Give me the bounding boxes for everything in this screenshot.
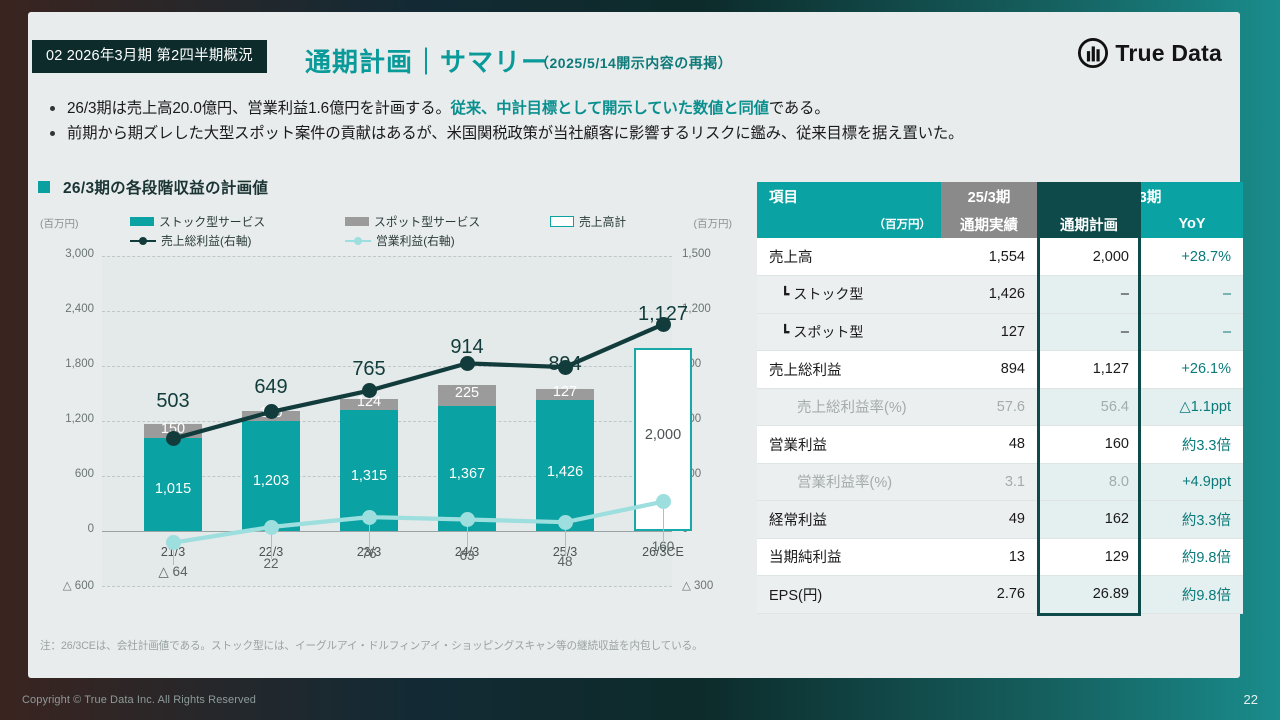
table-row: EPS(円)2.7626.89約9.8倍 [757,576,1243,614]
bullet-dot-icon [50,131,55,136]
bullet-text: 前期から期ズレした大型スポット案件の貢献はあるが、米国関税政策が当社顧客に影響す… [67,121,963,146]
row-plan: – [1037,276,1141,314]
plan-column-header-highlight [1037,182,1141,213]
th-item: 項目 [757,182,941,210]
chart-footnote: 注：26/3CEは、会社計画値である。ストック型には、イーグルアイ・ドルフィンア… [40,638,703,653]
legend-item-spot: スポット型サービス [345,213,550,230]
table-head-row-2: （百万円） 通期実績 通期計画 YoY [757,210,1243,238]
table-row: 営業利益48160約3.3倍 [757,426,1243,464]
footer-page-number: 22 [1244,692,1258,707]
table-row: 当期純利益13129約9.8倍 [757,538,1243,576]
table-row: 営業利益率(%)3.18.0+4.9ppt [757,463,1243,501]
bullet-item: 26/3期は売上高20.0億円、営業利益1.6億円を計画する。従来、中計目標とし… [44,96,1232,121]
legend-line-dark-icon [130,235,156,246]
chart-plot-area: 3,000 2,400 1,800 1,200 600 0 △ 600 1,50… [102,256,672,586]
operating-profit-point [656,494,671,509]
chart-ytick-left: 0 [88,523,94,535]
row-yoy: +26.1% [1141,351,1243,389]
chart-ytick-right: △ 300 [682,578,713,592]
chart-legend-row: 売上総利益(右軸) 営業利益(右軸) [130,231,690,250]
table-row: 売上総利益率(%)57.656.4△1.1ppt [757,388,1243,426]
row-plan: 2,000 [1037,238,1141,276]
row-actual: 1,426 [941,276,1037,314]
section-marker-icon [38,181,50,193]
table-head: 項目 25/3期 26/3期 （百万円） 通期実績 通期計画 YoY [757,182,1243,238]
legend-line-light-icon [345,235,371,246]
chapter-tag: 02 2026年3月期 第2四半期概況 [32,40,267,73]
row-actual: 49 [941,501,1037,539]
summary-table-grid: 項目 25/3期 26/3期 （百万円） 通期実績 通期計画 YoY 売上高1,… [757,182,1243,614]
legend-label: ストック型サービス [159,213,265,230]
legend-swatch-teal-icon [130,217,154,226]
legend-swatch-hollow-icon [550,216,574,227]
chart-ytick-left: 600 [75,468,94,480]
row-label: 売上総利益率(%) [757,388,941,426]
row-yoy: 約9.8倍 [1141,538,1243,576]
bullet-dot-icon [50,106,55,111]
chart-unit-left: (百万円) [40,216,79,231]
legend-item-stock: ストック型サービス [130,213,345,230]
legend-item-operating-profit: 営業利益(右軸) [345,232,550,249]
chart-ytick-left: 3,000 [65,248,94,260]
row-label: 売上高 [757,238,941,276]
row-plan: 56.4 [1037,388,1141,426]
legend-item-gross-profit: 売上総利益(右軸) [130,232,345,249]
bullet-text: 26/3期は売上高20.0億円、営業利益1.6億円を計画する。従来、中計目標とし… [67,96,830,121]
th-plan: 通期計画 [1037,210,1141,238]
row-plan: 129 [1037,538,1141,576]
row-label: EPS(円) [757,576,941,614]
row-yoy: 約3.3倍 [1141,501,1243,539]
bullet-list: 26/3期は売上高20.0億円、営業利益1.6億円を計画する。従来、中計目標とし… [44,96,1232,146]
row-yoy: △1.1ppt [1141,388,1243,426]
bullet-text-post: である。 [769,100,830,117]
row-actual: 48 [941,426,1037,464]
chart-ytick-left: 2,400 [65,303,94,315]
chart-ytick-left: 1,200 [65,413,94,425]
gross-profit-point [166,431,181,446]
operating-profit-point [460,512,475,527]
row-label: 経常利益 [757,501,941,539]
chart-ytick-left: △ 600 [63,578,94,592]
row-actual: 1,554 [941,238,1037,276]
row-actual: 2.76 [941,576,1037,614]
gross-profit-point [656,317,671,332]
row-plan: 8.0 [1037,463,1141,501]
th-actual: 通期実績 [941,210,1037,238]
row-label: 営業利益率(%) [757,463,941,501]
gross-profit-point [558,360,573,375]
row-actual: 127 [941,313,1037,351]
row-plan: 162 [1037,501,1141,539]
table-row: 経常利益49162約3.3倍 [757,501,1243,539]
row-label: 売上総利益 [757,351,941,389]
gross-profit-point [264,404,279,419]
th-unit: （百万円） [757,210,941,238]
row-actual: 57.6 [941,388,1037,426]
operating-profit-point [558,515,573,530]
bullet-text-emphasis: 従来、中計目標として開示していた数値と同値 [451,100,769,117]
slide-header: 02 2026年3月期 第2四半期概況 通期計画｜サマリー （2025/5/14… [28,12,1240,84]
row-actual: 894 [941,351,1037,389]
row-label: ┗ スポット型 [757,313,941,351]
legend-item-total-sales: 売上高計 [550,213,626,230]
row-yoy: 約3.3倍 [1141,426,1243,464]
slide-root: 02 2026年3月期 第2四半期概況 通期計画｜サマリー （2025/5/14… [0,0,1280,720]
chart-line-layer [102,256,672,586]
section-heading: 26/3期の各段階収益の計画値 [38,176,268,198]
true-data-logo-icon [1078,38,1108,68]
chart-unit-right: (百万円) [694,216,733,231]
row-plan: – [1037,313,1141,351]
summary-table: 項目 25/3期 26/3期 （百万円） 通期実績 通期計画 YoY 売上高1,… [757,182,1243,614]
row-yoy: – [1141,313,1243,351]
operating-profit-point [264,520,279,535]
legend-label: 営業利益(右軸) [376,232,455,249]
table-row: ┗ スポット型127–– [757,313,1243,351]
row-plan: 1,127 [1037,351,1141,389]
row-yoy: 約9.8倍 [1141,576,1243,614]
row-actual: 3.1 [941,463,1037,501]
page-subtitle: （2025/5/14開示内容の再掲） [535,53,732,73]
row-label: ┗ ストック型 [757,276,941,314]
page-title: 通期計画｜サマリー [305,42,548,79]
chart-ytick-left: 1,800 [65,358,94,370]
brand-logo: True Data [1078,38,1222,68]
operating-profit-point [166,535,181,550]
row-yoy: +4.9ppt [1141,463,1243,501]
operating-profit-point [362,510,377,525]
table-row: 売上総利益8941,127+26.1% [757,351,1243,389]
bullet-item: 前期から期ズレした大型スポット案件の貢献はあるが、米国関税政策が当社顧客に影響す… [44,121,1232,146]
legend-label: 売上高計 [579,213,626,230]
legend-label: 売上総利益(右軸) [161,232,251,249]
brand-logo-text: True Data [1115,40,1222,67]
gross-profit-line [173,324,663,438]
table-row: ┗ ストック型1,426–– [757,276,1243,314]
row-yoy: – [1141,276,1243,314]
gross-profit-point [362,383,377,398]
footer-copyright: Copyright © True Data Inc. All Rights Re… [22,694,256,706]
row-yoy: +28.7% [1141,238,1243,276]
row-label: 営業利益 [757,426,941,464]
th-fy25: 25/3期 [941,182,1037,210]
row-plan: 160 [1037,426,1141,464]
row-label: 当期純利益 [757,538,941,576]
chart-legend-row: ストック型サービス スポット型サービス 売上高計 [130,212,690,231]
gross-profit-point [460,356,475,371]
table-body: 売上高1,5542,000+28.7% ┗ ストック型1,426–– ┗ スポッ… [757,238,1243,613]
revenue-chart: (百万円) (百万円) ストック型サービス スポット型サービス 売上高計 [34,208,734,628]
chart-legend: ストック型サービス スポット型サービス 売上高計 売上総利益(右軸) [130,212,690,250]
legend-label: スポット型サービス [374,213,480,230]
operating-profit-line [173,502,663,543]
section-heading-label: 26/3期の各段階収益の計画値 [63,176,268,198]
bullet-text-pre: 26/3期は売上高20.0億円、営業利益1.6億円を計画する。 [67,100,451,117]
table-head-row-1: 項目 25/3期 26/3期 [757,182,1243,210]
row-plan: 26.89 [1037,576,1141,614]
table-row: 売上高1,5542,000+28.7% [757,238,1243,276]
row-actual: 13 [941,538,1037,576]
legend-swatch-gray-icon [345,217,369,226]
chart-gridline [102,586,672,587]
th-yoy: YoY [1141,210,1243,238]
